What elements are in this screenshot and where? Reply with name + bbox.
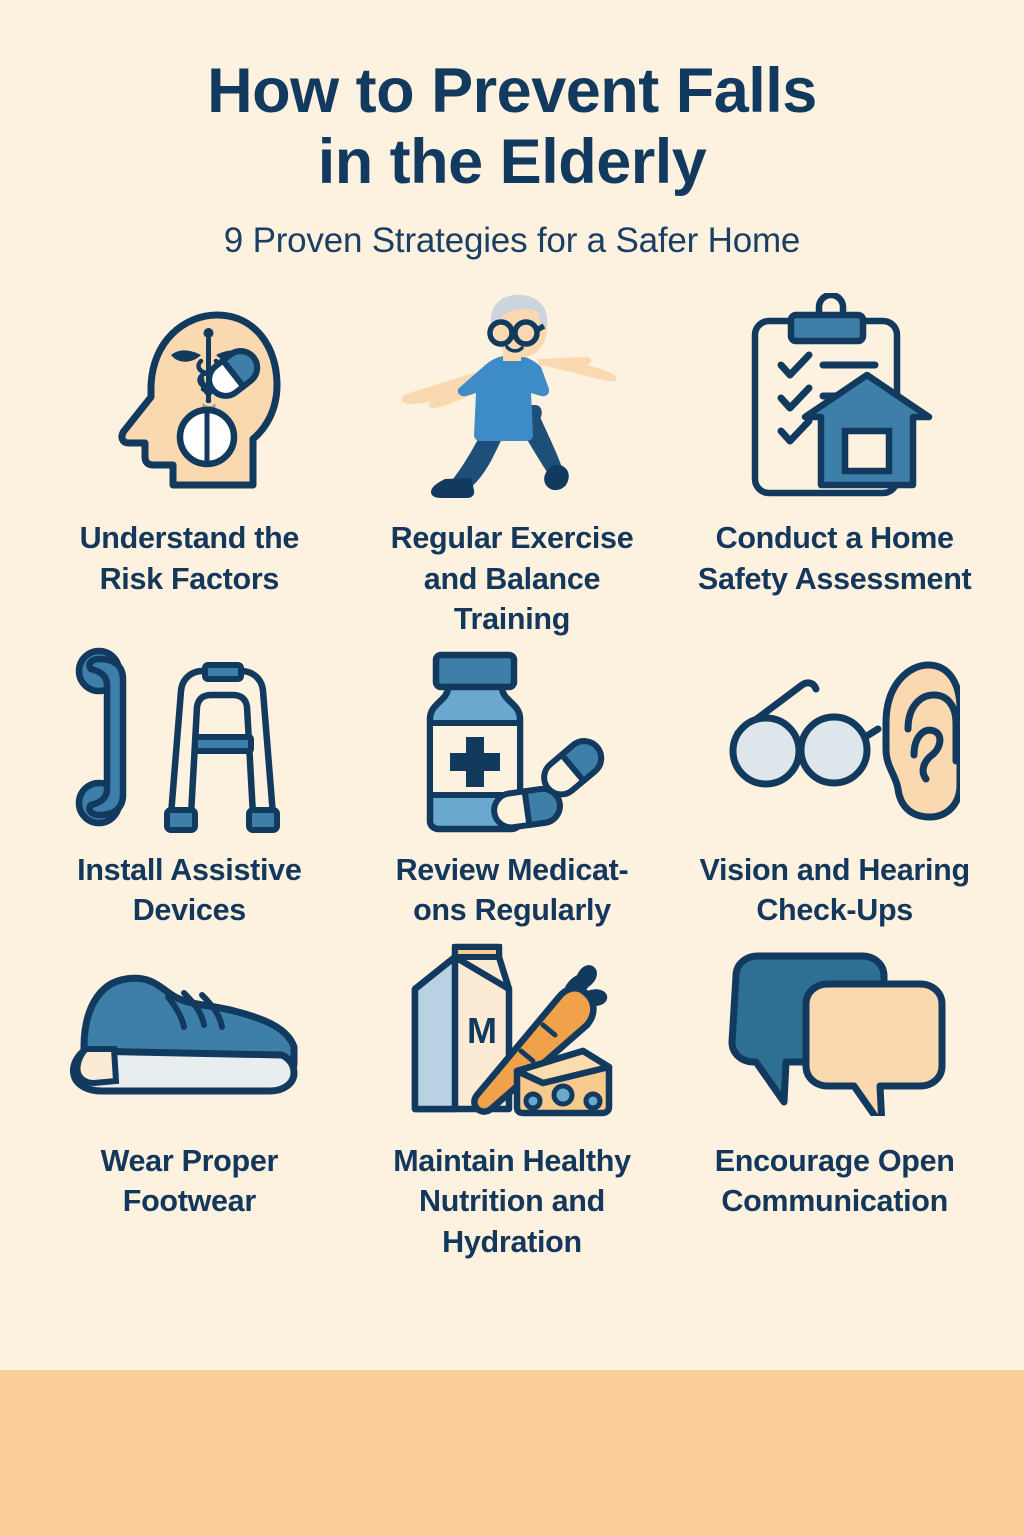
title-line-1: How to Prevent Falls — [207, 56, 817, 126]
footer-band — [0, 1370, 1024, 1536]
page-title: How to Prevent Fallsin the Elderly — [0, 56, 1024, 197]
strategy-card-1: Understand the Risk Factors — [28, 293, 351, 640]
milk-carrot-cheese-icon-cell: M — [351, 931, 674, 1263]
strategy-card-2: Regular Exercise and Balance Training — [351, 293, 674, 640]
strategy-grid: Understand the Risk Factors — [0, 293, 1024, 1263]
clipboard-house-icon — [727, 293, 942, 508]
strategy-caption-7: Wear Proper Footwear — [101, 1141, 279, 1222]
milk-carton-letter: M — [467, 1010, 497, 1051]
strategy-card-6: Vision and Hearing Check-Ups — [673, 640, 996, 931]
exercising-elder-icon — [387, 293, 637, 508]
strategy-card-4: Install Assistive Devices — [28, 640, 351, 931]
strategy-caption-2: Regular Exercise and Balance Training — [391, 518, 634, 640]
medicine-bottle-pills-icon — [404, 640, 619, 840]
strategy-card-7: Wear Proper Footwear — [28, 931, 351, 1263]
title-line-2: in the Elderly — [0, 127, 1024, 198]
strategy-caption-1: Understand the Risk Factors — [80, 518, 300, 599]
infographic-page: How to Prevent Fallsin the Elderly 9 Pro… — [0, 0, 1024, 1536]
milk-carrot-cheese-icon: M — [397, 931, 627, 1131]
strategy-card-9: Encourage Open Communication — [673, 931, 996, 1263]
header: How to Prevent Fallsin the Elderly 9 Pro… — [0, 0, 1024, 261]
sneaker-icon — [64, 931, 314, 1131]
strategy-caption-9: Encourage Open Communication — [715, 1141, 955, 1222]
strategy-card-5: Review Medicat- ons Regularly — [351, 640, 674, 931]
page-subtitle: 9 Proven Strategies for a Safer Home — [0, 221, 1024, 261]
strategy-caption-4: Install Assistive Devices — [77, 850, 301, 931]
strategy-caption-8: Maintain Healthy Nutrition and Hydration — [393, 1141, 631, 1263]
strategy-caption-3: Conduct a Home Safety Assessment — [698, 518, 972, 599]
strategy-card-3: Conduct a Home Safety Assessment — [673, 293, 996, 640]
glasses-ear-icon — [710, 640, 960, 840]
grab-bar-walker-icon — [69, 640, 309, 840]
strategy-caption-5: Review Medicat- ons Regularly — [396, 850, 629, 931]
speech-bubbles-icon — [720, 931, 950, 1131]
strategy-caption-6: Vision and Hearing Check-Ups — [700, 850, 970, 931]
head-risk-factors-icon — [89, 293, 289, 508]
